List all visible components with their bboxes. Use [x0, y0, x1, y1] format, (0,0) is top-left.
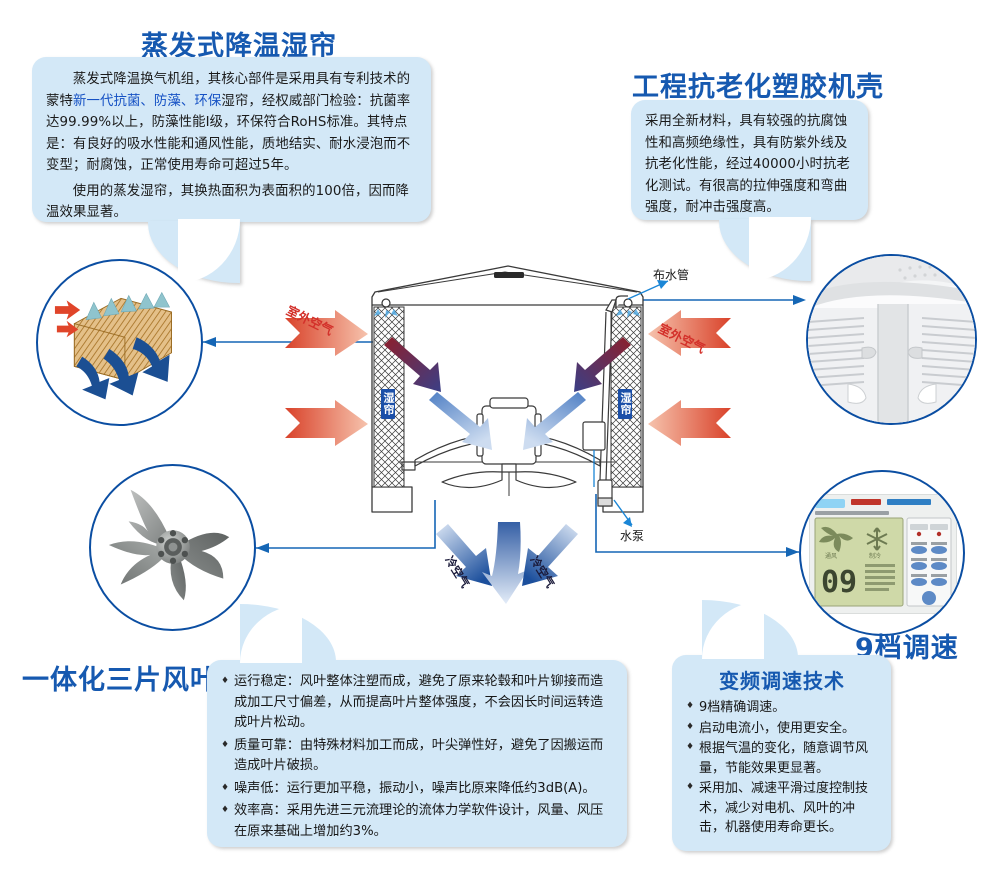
cooling-pad-photo [36, 259, 203, 426]
plastic-shell-photo [806, 254, 977, 425]
page-title-plastic-shell: 工程抗老化塑胶机壳 [632, 65, 884, 104]
callout-cooling-pad-paragraph-1: 蒸发式降温换气机组，其核心部件是采用具有专利技术的蒙特新一代抗菌、防藻、环保湿帘… [46, 69, 417, 177]
speed-control-feature-list: 9档精确调速。 启动电流小，使用更安全。 根据气温的变化，随意调节风量，节能效果… [686, 698, 878, 838]
list-item: 运行稳定：风叶整体注塑而成，避免了原来轮毂和叶片铆接而造成加工尺寸偏差，从而提高… [221, 672, 611, 734]
callout-speed-control: 变频调速技术 9档精确调速。 启动电流小，使用更安全。 根据气温的变化，随意调节… [672, 655, 891, 851]
hot-air-arrow-right-bottom [648, 400, 731, 446]
page-title-fan-blade: 一体化三片风叶 [22, 658, 218, 697]
label-water-pipe: 布水管 [653, 266, 689, 283]
list-item: 噪声低：运行更加平稳，振动小，噪声比原来降低约3dB(A)。 [221, 779, 611, 800]
callout-plastic-shell-paragraph: 采用全新材料，具有较强的抗腐蚀性和高频绝缘性，具有防紫外线及抗老化性能，经过40… [645, 111, 854, 219]
fan-blade-feature-list: 运行稳定：风叶整体注塑而成，避免了原来轮毂和叶片铆接而造成加工尺寸偏差，从而提高… [221, 672, 611, 842]
callout-plastic-shell: 采用全新材料，具有较强的抗腐蚀性和高频绝缘性，具有防紫外线及抗老化性能，经过40… [631, 100, 868, 220]
three-blade-fan-illustration [99, 474, 247, 622]
list-item: 效率高：采用先进三元流理论的流体力学软件设计，风量、风压在原来基础上增加约3%。 [221, 801, 611, 842]
callout-cooling-pad: 蒸发式降温换气机组，其核心部件是采用具有专利技术的蒙特新一代抗菌、防藻、环保湿帘… [32, 57, 431, 222]
honeycomb-pad-illustration [52, 277, 190, 413]
callout-speed-control-title: 变频调速技术 [686, 665, 878, 694]
list-item: 质量可靠：由特殊材料加工而成，叶尖弹性好，避免了因搬运而造成叶片破损。 [221, 736, 611, 777]
label-wet-pad-right: 湿帘 [618, 389, 632, 419]
fan-blade-photo [89, 464, 256, 631]
plastic-housing-illustration [806, 254, 977, 425]
cold-air-arrow-center [482, 522, 528, 604]
controller-display-value: 09 [821, 565, 857, 600]
list-item: 9档精确调速。 [686, 698, 878, 718]
infographic-page: 室外空气 室外空气 布水管 水泵 冷空气 冷空气 湿帘 湿帘 [0, 0, 1000, 889]
control-panel-illustration: 通风 制冷 09 [809, 494, 957, 614]
list-item: 启动电流小，使用更安全。 [686, 719, 878, 739]
controller-photo: 通风 制冷 09 [799, 470, 965, 636]
label-water-pump: 水泵 [620, 527, 644, 544]
cooling-pad-text-highlight: 新一代抗菌、防藻、环保 [73, 94, 221, 109]
callout-fan-blade: 运行稳定：风叶整体注塑而成，避免了原来轮毂和叶片铆接而造成加工尺寸偏差，从而提高… [207, 660, 627, 847]
list-item: 根据气温的变化，随意调节风量，节能效果更显著。 [686, 739, 878, 778]
list-item: 采用加、减速平滑过度控制技术，减少对电机、风叶的冲击，机器使用寿命更长。 [686, 779, 878, 838]
hot-air-arrow-left-bottom [285, 400, 368, 446]
svg-text:制冷: 制冷 [869, 552, 881, 560]
label-wet-pad-left: 湿帘 [381, 389, 395, 419]
svg-text:通风: 通风 [825, 552, 837, 560]
callout-cooling-pad-paragraph-2: 使用的蒸发湿帘，其换热面积为表面积的100倍，因而降温效果显著。 [46, 181, 417, 224]
